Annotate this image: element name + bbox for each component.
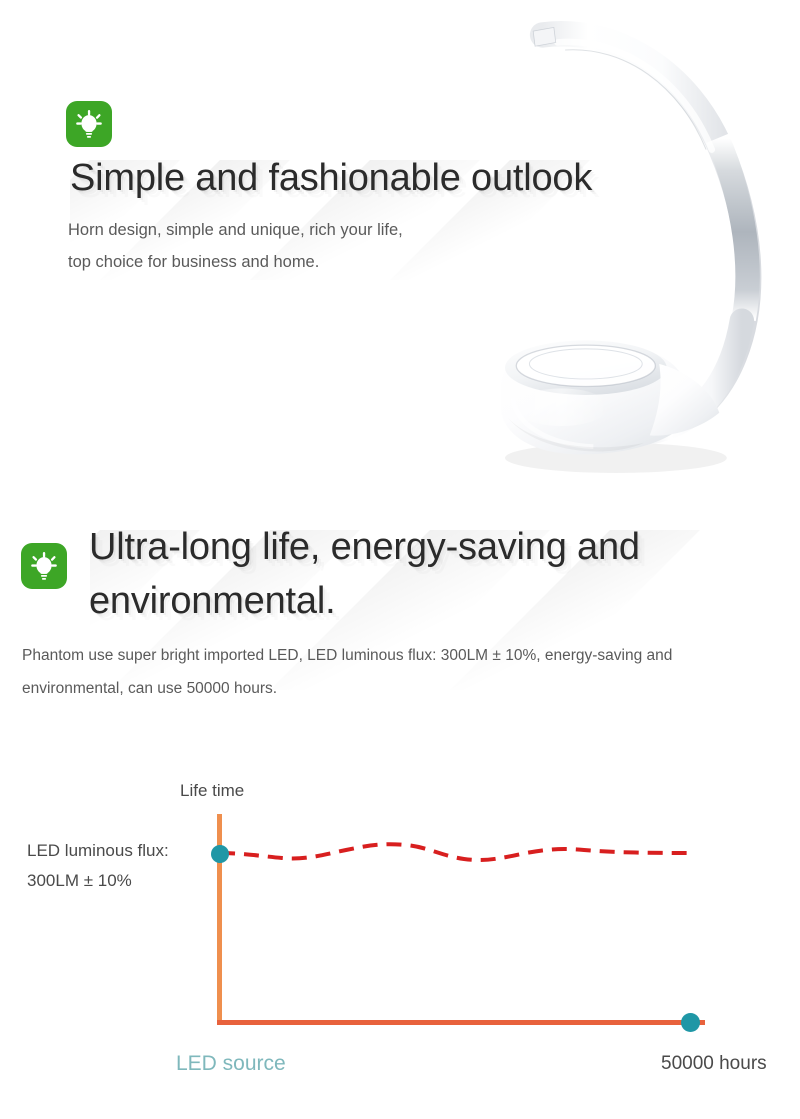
product-detail-page: Simple and fashionable outlook Horn desi…: [0, 0, 800, 1119]
chart-x-axis-label-right: 50000 hours: [661, 1053, 767, 1075]
lightbulb-icon: [21, 543, 67, 589]
section-2-body-line-2: environmental, can use 50000 hours.: [22, 678, 277, 700]
section-2-heading-line-1: Ultra-long life, energy-saving and: [89, 524, 789, 570]
chart-y-axis-title: Life time: [180, 781, 244, 801]
chart-series-label-line-1: LED luminous flux:: [27, 841, 169, 861]
section-1-heading: Simple and fashionable outlook: [70, 155, 710, 201]
chart-series-label-line-2: 300LM ± 10%: [27, 871, 132, 891]
section-1-body-line-1: Horn design, simple and unique, rich you…: [68, 219, 403, 241]
chart-lifetime-end-marker: [681, 1013, 700, 1032]
section-2-heading-line-2: environmental.: [89, 578, 789, 624]
chart-luminous-flux-line: [214, 812, 714, 882]
chart-x-axis-label-left: LED source: [176, 1052, 286, 1076]
chart-origin-marker: [211, 845, 229, 863]
product-image-led-desk-lamp: [465, 18, 795, 518]
chart-horizontal-axis: [217, 1020, 705, 1025]
section-2-body-line-1: Phantom use super bright imported LED, L…: [22, 645, 672, 667]
lightbulb-icon: [66, 101, 112, 147]
section-1-body-line-2: top choice for business and home.: [68, 251, 319, 273]
